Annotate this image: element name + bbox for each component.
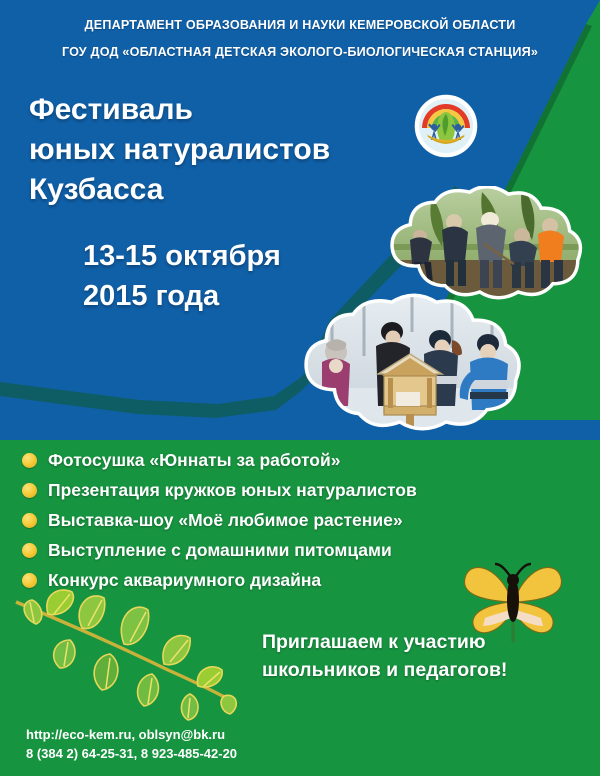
program-item-label: Презентация кружков юных натуралистов [48,480,417,501]
list-item: Фотосушка «Юннаты за работой» [22,446,562,475]
program-item-label: Выступление с домашними питомцами [48,540,392,561]
date-line-2: 2015 года [83,277,281,317]
program-item-label: Фотосушка «Юннаты за работой» [48,450,341,471]
bullet-dot-icon [22,573,37,588]
organization-header: ДЕПАРТАМЕНТ ОБРАЗОВАНИЯ И НАУКИ КЕМЕРОВС… [0,18,600,59]
poster: ДЕПАРТАМЕНТ ОБРАЗОВАНИЯ И НАУКИ КЕМЕРОВС… [0,0,600,776]
event-dates: 13-15 октября 2015 года [83,237,281,316]
bullet-dot-icon [22,453,37,468]
bullet-dot-icon [22,543,37,558]
invitation-text: Приглашаем к участию школьников и педаго… [262,628,592,685]
date-line-1: 13-15 октября [83,237,281,277]
list-item: Презентация кружков юных натуралистов [22,476,562,505]
invite-line-1: Приглашаем к участию [262,628,592,656]
title-line-2: юных натуралистов [29,130,409,170]
organization-emblem-icon [414,94,478,158]
photo-cloud-bird-feeder [292,292,538,440]
title-line-3: Кузбасса [29,170,409,210]
photo-cloud-tree-planting [372,186,600,304]
bullet-dot-icon [22,513,37,528]
title-line-1: Фестиваль [29,90,409,130]
department-line: ДЕПАРТАМЕНТ ОБРАЗОВАНИЯ И НАУКИ КЕМЕРОВС… [0,18,600,32]
bullet-dot-icon [22,483,37,498]
contact-phones: 8 (384 2) 64-25-31, 8 923-485-42-20 [26,745,237,764]
list-item: Выставка-шоу «Моё любимое растение» [22,506,562,535]
contact-web[interactable]: http://eco-kem.ru, oblsyn@bk.ru [26,726,237,745]
poster-title: Фестиваль юных натуралистов Кузбасса [29,90,409,210]
invite-line-2: школьников и педагогов! [262,656,592,684]
contact-info: http://eco-kem.ru, oblsyn@bk.ru 8 (384 2… [26,726,237,764]
leaf-branch-icon [8,588,238,728]
program-item-label: Выставка-шоу «Моё любимое растение» [48,510,403,531]
station-line: ГОУ ДОД «ОБЛАСТНАЯ ДЕТСКАЯ ЭКОЛОГО-БИОЛО… [0,45,600,59]
